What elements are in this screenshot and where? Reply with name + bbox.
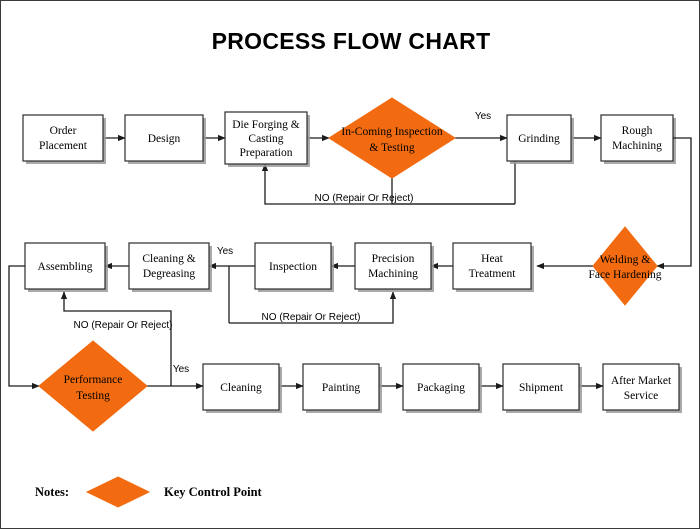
node-label-line1: Precision [372,253,415,265]
legend-notes-label: Notes: [35,485,69,499]
node-label-line2: Face Hardening [588,269,661,281]
node-welding-face-hardening[interactable]: Welding & Face Hardening [588,227,661,305]
node-label-line2: & Testing [369,142,415,154]
node-cleaning-degreasing[interactable]: Cleaning & Degreasing [129,243,212,292]
node-label-line1: Heat [481,253,504,265]
node-label-line1: Die Forging & [232,119,300,131]
page-title: PROCESS FLOW CHART [212,28,491,54]
node-assembling[interactable]: Assembling [25,243,108,292]
node-label-line2: Placement [39,140,88,152]
process-flow-chart: PROCESS FLOW CHART Order Placement Desig… [1,1,700,529]
node-label-line1: Shipment [519,382,564,394]
node-order-placement[interactable]: Order Placement [23,115,106,164]
flowchart-page: PROCESS FLOW CHART Order Placement Desig… [0,0,700,529]
node-label-line2: Testing [76,390,110,402]
node-rough-machining[interactable]: Rough Machining [601,115,676,164]
node-label-line3: Preparation [239,147,292,159]
key-control-point-diamond [39,341,147,431]
edge-label-no-row1: NO (Repair Or Reject) [315,193,414,204]
node-label-line2: Degreasing [143,268,196,280]
node-label-line1: Cleaning & [142,253,195,265]
node-in-coming-inspection-testing[interactable]: In-Coming Inspection & Testing [329,98,455,178]
node-after-market-service[interactable]: After Market Service [603,364,682,413]
edge-label-yes-row3: Yes [173,364,189,375]
key-control-point-diamond [329,98,455,178]
node-precision-machining[interactable]: Precision Machining [355,243,434,292]
node-label-line1: Welding & [600,254,651,266]
node-label-line2: Machining [612,140,662,152]
node-heat-treatment[interactable]: Heat Treatment [453,243,534,292]
edge-label-no-row3: NO (Repair Or Reject) [74,320,173,331]
legend: Notes: Key Control Point [35,477,263,507]
node-label-line1: Inspection [269,261,317,273]
node-label-line1: Performance [64,374,123,386]
node-packaging[interactable]: Packaging [403,364,482,413]
node-die-forging-casting-preparation[interactable]: Die Forging & Casting Preparation [225,112,310,167]
node-inspection[interactable]: Inspection [255,243,334,292]
node-painting[interactable]: Painting [303,364,382,413]
node-label-line1: Painting [322,382,361,394]
node-label-line1: Packaging [417,382,465,394]
node-cleaning[interactable]: Cleaning [203,364,282,413]
node-label-line1: Rough [622,125,653,137]
node-label-line1: Grinding [518,133,560,145]
legend-key-control-point-label: Key Control Point [164,485,263,499]
edge-label-no-row2: NO (Repair Or Reject) [262,312,361,323]
node-design[interactable]: Design [125,115,206,164]
key-control-point-diamond [593,227,657,305]
node-label-line1: Order [50,125,77,137]
node-label-line1: After Market [611,375,672,387]
node-label-line2: Machining [368,268,418,280]
node-grinding[interactable]: Grinding [507,115,574,164]
edge-label-yes-row2: Yes [217,246,233,257]
node-label-line2: Service [624,390,658,402]
node-label-line1: Cleaning [220,382,262,394]
node-shipment[interactable]: Shipment [503,364,582,413]
node-label-line1: Design [148,133,181,145]
node-performance-testing[interactable]: Performance Testing [39,341,147,431]
node-label-line2: Treatment [469,268,517,280]
node-label-line2: Casting [248,133,283,145]
node-label-line1: In-Coming Inspection [341,126,442,138]
edge-label-yes-row1: Yes [475,111,491,122]
node-label-line1: Assembling [38,261,93,273]
legend-key-control-point-swatch [87,477,149,507]
